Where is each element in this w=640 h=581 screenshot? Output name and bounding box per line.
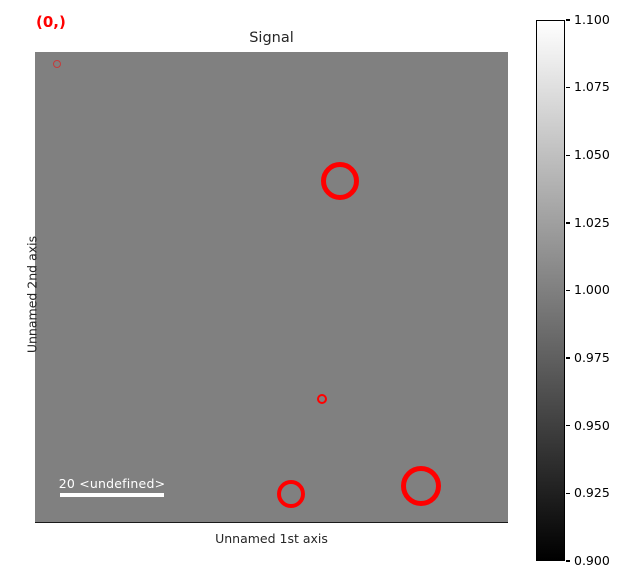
colorbar-tick-mark	[566, 19, 570, 20]
colorbar-tick-mark	[566, 290, 570, 291]
colorbar-tick-label: 1.000	[574, 284, 610, 297]
y-axis-label: Unnamed 2nd axis	[25, 195, 40, 395]
colorbar-tick-label: 1.025	[574, 217, 610, 230]
colorbar-tick-mark	[566, 222, 570, 223]
colorbar-tick-label: 1.100	[574, 14, 610, 27]
colorbar-tick-mark	[566, 357, 570, 358]
colorbar-tick-label: 1.075	[574, 81, 610, 94]
signal-image[interactable]	[35, 52, 508, 522]
x-axis-label: Unnamed 1st axis	[35, 531, 508, 546]
scalebar-label: 20 <undefined>	[52, 476, 172, 491]
colorbar-tick-label: 0.975	[574, 352, 610, 365]
colorbar-tick-mark	[566, 87, 570, 88]
colorbar-ticks: 1.1001.0751.0501.0251.0000.9750.9500.925…	[566, 20, 640, 561]
colorbar-tick-mark	[566, 155, 570, 156]
plot-title: Signal	[35, 30, 508, 46]
colorbar-tick-label: 0.925	[574, 487, 610, 500]
scalebar: 20 <undefined>	[52, 476, 172, 497]
colorbar-tick-mark	[566, 560, 570, 561]
colorbar-tick-mark	[566, 425, 570, 426]
scalebar-line	[60, 493, 164, 497]
navigator-index-label: (0,)	[36, 13, 66, 31]
colorbar-tick-mark	[566, 493, 570, 494]
colorbar-tick-label: 1.050	[574, 149, 610, 162]
colorbar-tick-label: 0.900	[574, 555, 610, 568]
colorbar[interactable]	[536, 20, 565, 561]
colorbar-tick-label: 0.950	[574, 420, 610, 433]
image-axes[interactable]: 20 <undefined>	[35, 52, 508, 523]
signal-figure: (0,) Signal 20 <undefined> Unnamed 1st a…	[0, 0, 640, 581]
